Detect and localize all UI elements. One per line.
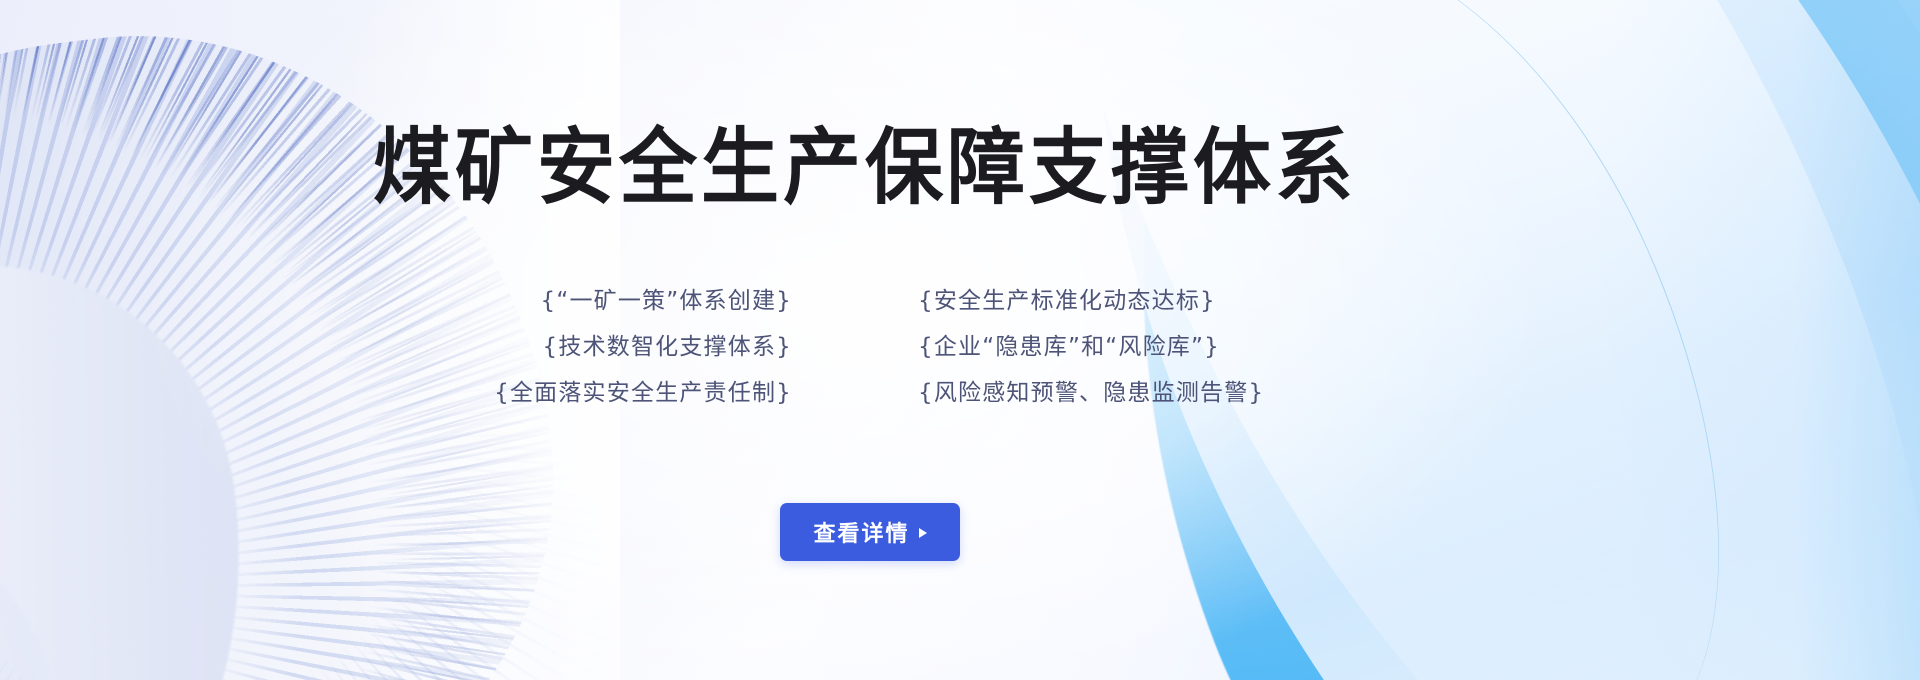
feature-list: {“一矿一策”体系创建} {技术数智化支撑体系} {全面落实安全生产责任制} {… [0, 288, 1740, 406]
feature-item: {全面落实安全生产责任制} [402, 380, 792, 406]
feature-column-right: {安全生产标准化动态达标} {企业“隐患库”和“风险库”} {风险感知预警、隐患… [918, 288, 1338, 406]
feature-item: {技术数智化支撑体系} [402, 334, 792, 360]
view-details-label: 查看详情 [813, 516, 909, 548]
feature-item: {安全生产标准化动态达标} [918, 288, 1216, 314]
cta-row: 查看详情 [0, 503, 1740, 561]
feature-item: {风险感知预警、隐患监测告警} [918, 380, 1264, 406]
banner-content: 煤矿安全生产保障支撑体系 {“一矿一策”体系创建} {技术数智化支撑体系} {全… [0, 0, 1920, 680]
hero-banner: 煤矿安全生产保障支撑体系 {“一矿一策”体系创建} {技术数智化支撑体系} {全… [0, 0, 1920, 680]
triangle-right-icon [919, 528, 927, 538]
feature-column-left: {“一矿一策”体系创建} {技术数智化支撑体系} {全面落实安全生产责任制} [402, 288, 792, 406]
page-title: 煤矿安全生产保障支撑体系 [0, 123, 1730, 214]
feature-item: {“一矿一策”体系创建} [402, 288, 792, 314]
feature-item: {企业“隐患库”和“风险库”} [918, 334, 1220, 360]
view-details-button[interactable]: 查看详情 [780, 503, 960, 561]
